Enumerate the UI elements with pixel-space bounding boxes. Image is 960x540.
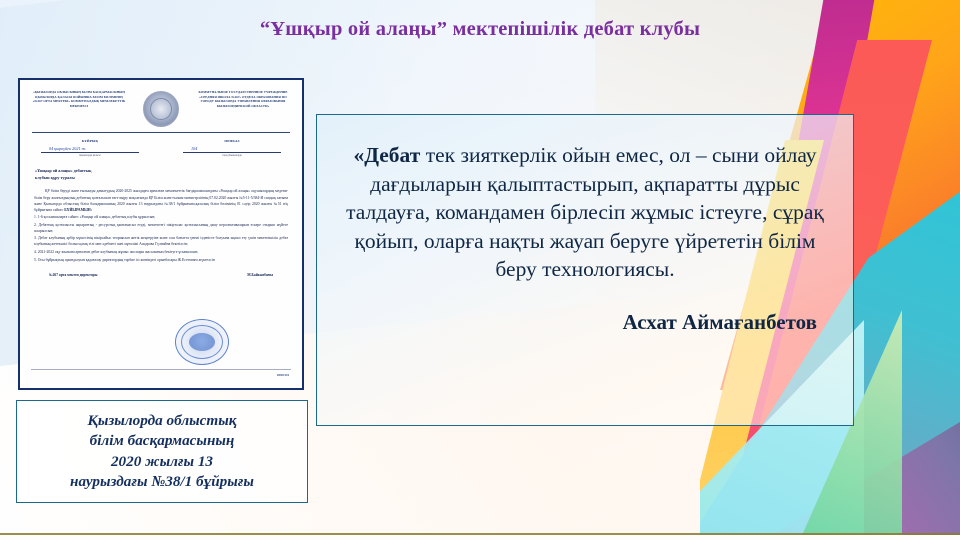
caption-line-1: Қызылорда облыстық — [70, 411, 254, 431]
document-order-keyword: БҰЙЫРАМЫН: — [64, 208, 92, 212]
document-letterhead: «ҚЫЗЫЛОРДА ОБЛЫСЫНЫҢ БІЛІМ БАСҚАРМАСЫНЫҢ… — [23, 83, 299, 127]
document-meta: БҰЙРЫҚ 04 қыркүйек 2021 ж. Қызылорда қал… — [23, 133, 299, 157]
document-footer-number: 000104 — [277, 373, 289, 377]
order-date-sublabel: Қызылорда қаласы — [35, 154, 145, 157]
quote-author: Асхат Аймағанбетов — [343, 310, 827, 335]
quote-lead-bold: «Дебат — [353, 143, 420, 167]
document-item-3: 3. Дебат клубының әрбір мүшесінің пікірс… — [34, 235, 288, 247]
signer-title: №267 орта мектеп директоры — [49, 273, 97, 277]
state-emblem-icon — [143, 91, 179, 127]
caption-box: Қызылорда облыстық білім басқармасының 2… — [16, 400, 308, 503]
document-item-4: 4. 2021-2022 оқу жылына арналған дебат к… — [34, 249, 288, 255]
slide-canvas: “Ұшқыр ой алаңы” мектепішілік дебат клуб… — [0, 0, 960, 540]
document-item-1: 1. 1-6 қосымшаларға сәйкес «Ұшқыр ой ала… — [34, 214, 288, 220]
caption-line-3: 2020 жылғы 13 — [70, 452, 254, 472]
document-body: ҚР білім беруді және ғылымды дамытудың 2… — [34, 188, 288, 262]
slide-title: “Ұшқыр ой алаңы” мектепішілік дебат клуб… — [120, 18, 840, 41]
letterhead-kazakh: «ҚЫЗЫЛОРДА ОБЛЫСЫНЫҢ БІЛІМ БАСҚАРМАСЫНЫҢ… — [31, 90, 127, 109]
letterhead-russian: КОММУНАЛЬНОЕ ГОСУДАРСТВЕННОЕ УЧРЕЖДЕНИЕ … — [195, 90, 291, 109]
order-date-line: 04 қыркүйек 2021 ж. — [41, 147, 139, 153]
document-footer-divider — [31, 369, 291, 370]
bottom-white-strip — [0, 535, 960, 540]
order-date-handwritten: 04 қыркүйек 2021 ж. — [49, 146, 87, 151]
order-number-block: ПРИКАЗ 104 город Кызылорда — [177, 139, 287, 157]
quote-text: «Дебат тек зияткерлік ойын емес, ол – сы… — [343, 141, 827, 284]
order-number-handwritten: 104 — [191, 146, 197, 151]
order-number-line: 104 — [183, 147, 281, 153]
scanned-order-document[interactable]: «ҚЫЗЫЛОРДА ОБЛЫСЫНЫҢ БІЛІМ БАСҚАРМАСЫНЫҢ… — [18, 78, 304, 390]
order-label-russian: ПРИКАЗ — [177, 139, 287, 143]
document-subject: «Ұшқыр ой алаңы» дебаттық клубын құру ту… — [35, 168, 287, 181]
document-signature-row: №267 орта мектеп директоры М.Байкамбаева — [35, 273, 287, 277]
document-page: «ҚЫЗЫЛОРДА ОБЛЫСЫНЫҢ БІЛІМ БАСҚАРМАСЫНЫҢ… — [23, 83, 299, 385]
order-date-block: БҰЙРЫҚ 04 қыркүйек 2021 ж. Қызылорда қал… — [35, 139, 145, 157]
caption-text: Қызылорда облыстық білім басқармасының 2… — [70, 411, 254, 492]
document-subject-line1: «Ұшқыр ой алаңы» дебаттық — [35, 168, 287, 175]
caption-line-2: білім басқармасының — [70, 431, 254, 451]
document-subject-line2: клубын құру туралы — [35, 175, 287, 182]
official-seal-icon — [175, 319, 229, 365]
document-paragraph-intro: ҚР білім беруді және ғылымды дамытудың 2… — [34, 188, 288, 212]
order-label-kazakh: БҰЙРЫҚ — [35, 139, 145, 143]
signer-name: М.Байкамбаева — [247, 273, 273, 277]
quote-box: «Дебат тек зияткерлік ойын емес, ол – сы… — [316, 114, 854, 426]
document-item-5: 5. Осы бұйрықтың орындалуын қадағалау ди… — [34, 257, 288, 263]
caption-line-4: наурыздағы №38/1 бұйрығы — [70, 472, 254, 492]
order-city-russian: город Кызылорда — [177, 154, 287, 157]
document-item-2: 2. Дебаттық қозғалысты ақпараттық - ресу… — [34, 222, 288, 234]
